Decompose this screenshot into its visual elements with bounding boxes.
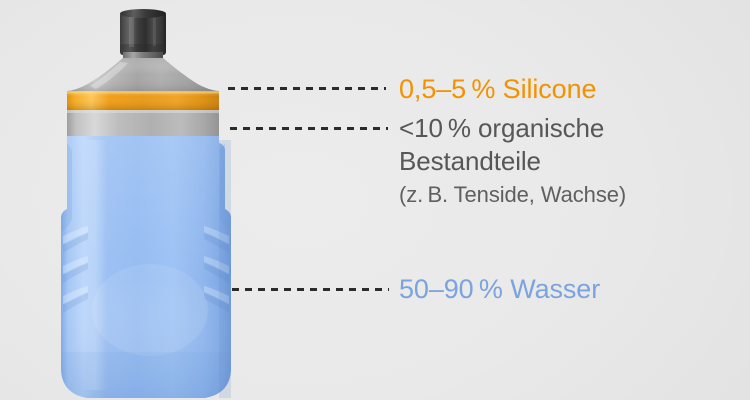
bottle-cap bbox=[120, 9, 166, 55]
callout-organic-line1: <10 % organische bbox=[399, 113, 604, 143]
callout-water: 50–90 % Wasser bbox=[399, 272, 600, 306]
callout-organic-line2: Bestandteile bbox=[399, 145, 626, 178]
infographic-canvas: 0,5–5 % Silicone <10 % organische Bestan… bbox=[0, 0, 750, 400]
detergent-bottle-illustration bbox=[0, 0, 300, 400]
organic-components-layer-band bbox=[67, 110, 219, 136]
callout-organic-line3: (z. B. Tenside, Wachse) bbox=[399, 180, 626, 210]
silicone-layer-band bbox=[67, 91, 219, 110]
callout-silicone-text: 0,5–5 % Silicone bbox=[399, 74, 596, 104]
callout-water-text: 50–90 % Wasser bbox=[399, 274, 600, 304]
bottle-shoulder bbox=[67, 58, 219, 94]
water-layer-body bbox=[61, 136, 231, 398]
callout-organic: <10 % organische Bestandteile (z. B. Ten… bbox=[399, 112, 626, 210]
leader-line-organic bbox=[230, 127, 388, 130]
leader-line-silicone bbox=[228, 87, 386, 90]
callout-silicone: 0,5–5 % Silicone bbox=[399, 72, 596, 106]
leader-line-water bbox=[232, 288, 389, 291]
